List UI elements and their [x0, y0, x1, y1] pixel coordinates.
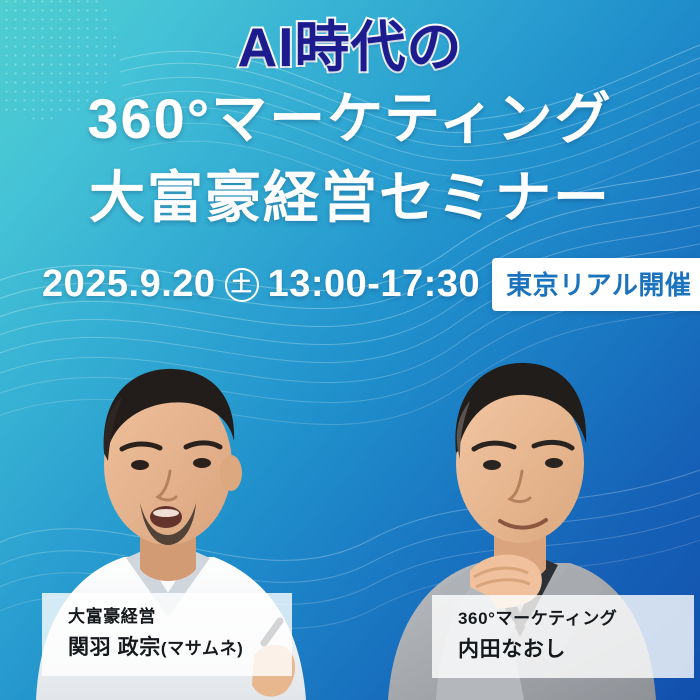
speaker-name-text: 内田なおし — [458, 638, 566, 661]
headline-block: AI時代の 360°マーケティング 大富豪経営セミナー — [0, 0, 700, 235]
speaker-role: 大富豪経営 — [68, 604, 276, 630]
seminar-poster: AI時代の 360°マーケティング 大富豪経営セミナー 2025.9.20 土 … — [0, 0, 700, 700]
speaker-role: 360°マーケティング — [458, 606, 678, 632]
speaker-nameplate-right: 360°マーケティング 内田なおし — [432, 595, 694, 678]
speaker-nameplate-left: 大富豪経営 関羽 政宗(マサムネ) — [42, 593, 292, 676]
speaker-name-text: 関羽 政宗 — [68, 636, 161, 659]
event-datetime: 2025.9.20 土 13:00-17:30 — [42, 263, 480, 306]
page-title-line1: AI時代の — [0, 0, 700, 77]
weekday-circle-icon: 土 — [225, 268, 259, 302]
event-date: 2025.9.20 — [42, 263, 216, 306]
speaker-name: 関羽 政宗(マサムネ) — [68, 632, 276, 664]
page-title-line3: 大富豪経営セミナー — [0, 156, 700, 235]
venue-badge: 東京リアル開催 — [492, 258, 700, 311]
speaker-name-kana: (マサムネ) — [161, 639, 244, 658]
event-info-row: 2025.9.20 土 13:00-17:30 東京リアル開催 — [42, 258, 676, 311]
event-time: 13:00-17:30 — [268, 263, 481, 306]
page-title-line2: 360°マーケティング — [0, 77, 700, 156]
speaker-name: 内田なおし — [458, 634, 678, 666]
